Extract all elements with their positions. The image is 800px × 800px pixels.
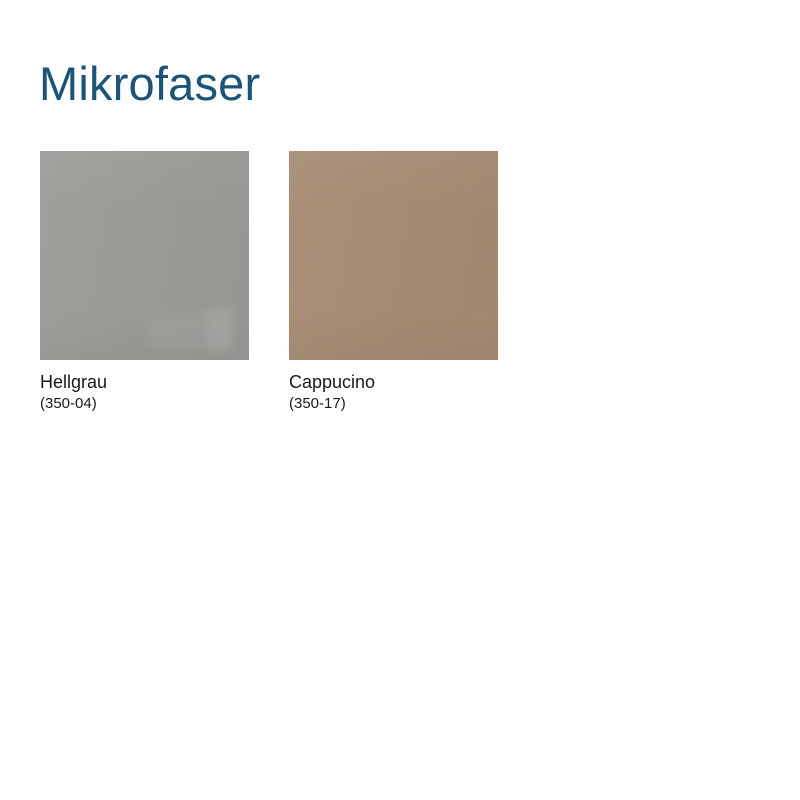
color-swatch-hellgrau[interactable] — [40, 151, 249, 360]
page-title: Mikrofaser — [39, 58, 260, 111]
swatch-highlight-patch-secondary — [207, 306, 234, 352]
material-swatch-page: Mikrofaser Hellgrau (350-04) Cappucino (… — [0, 0, 800, 800]
swatch-texture-overlay — [40, 151, 249, 360]
color-swatch-cappucino[interactable] — [289, 151, 498, 360]
swatch-texture-overlay — [289, 151, 498, 360]
swatch-highlight-patch — [149, 314, 233, 350]
swatch-grid: Hellgrau (350-04) Cappucino (350-17) — [40, 151, 760, 431]
swatch-card[interactable]: Cappucino (350-17) — [289, 151, 498, 413]
swatch-code: (350-04) — [40, 396, 249, 413]
swatch-name: Cappucino — [289, 372, 498, 392]
swatch-shading-overlay — [40, 151, 249, 360]
swatch-shading-overlay — [289, 151, 498, 360]
swatch-code: (350-17) — [289, 396, 498, 413]
swatch-card[interactable]: Hellgrau (350-04) — [40, 151, 249, 413]
swatch-name: Hellgrau — [40, 372, 249, 392]
